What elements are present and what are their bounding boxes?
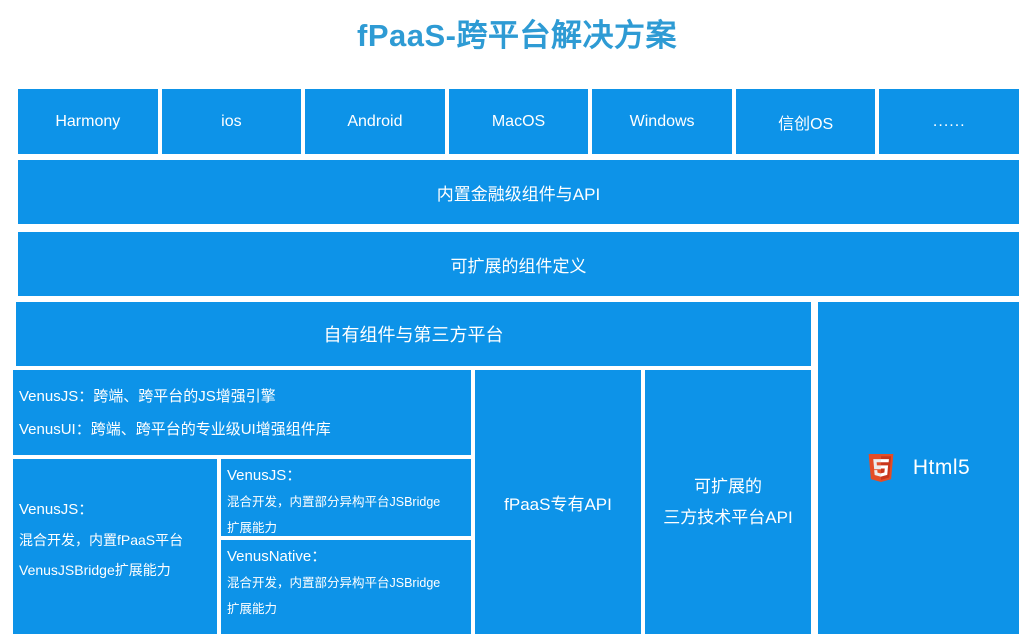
html5-label: Html5 bbox=[913, 456, 970, 480]
venus-native-line-1: 混合开发，内置部分异构平台JSBridge bbox=[227, 570, 465, 596]
html5-panel-content: Html5 bbox=[867, 452, 970, 484]
venus-js-bridge-box[interactable]: VenusJS： 混合开发，内置部分异构平台JSBridge 扩展能力 bbox=[221, 459, 471, 536]
extensible-component-label: 可扩展的组件定义 bbox=[451, 252, 587, 277]
fpaas-exclusive-api-label: fPaaS专有API bbox=[504, 490, 612, 515]
platform-cell-ios[interactable]: ios bbox=[162, 89, 302, 154]
venus-js-bridge-title: VenusJS： bbox=[227, 463, 465, 489]
html5-shield-icon bbox=[867, 452, 895, 484]
venus-js-bridge-line-2: 扩展能力 bbox=[227, 515, 465, 536]
platform-label: Android bbox=[347, 113, 402, 131]
own-components-bar[interactable]: 自有组件与第三方平台 bbox=[16, 302, 811, 366]
venus-native-box[interactable]: VenusNative： 混合开发，内置部分异构平台JSBridge 扩展能力 bbox=[221, 540, 471, 634]
venus-js-hybrid-line-2: VenusJSBridge扩展能力 bbox=[19, 555, 211, 585]
third-party-api-line-1: 可扩展的 bbox=[694, 471, 762, 502]
third-party-api-box[interactable]: 可扩展的 三方技术平台API bbox=[645, 370, 811, 634]
extensible-component-bar[interactable]: 可扩展的组件定义 bbox=[18, 232, 1019, 296]
venus-native-title: VenusNative： bbox=[227, 544, 465, 570]
builtin-financial-api-bar[interactable]: 内置金融级组件与API bbox=[18, 160, 1019, 224]
platform-label: Harmony bbox=[55, 113, 120, 131]
platform-cell-xinchuang-os[interactable]: 信创OS bbox=[736, 89, 876, 154]
platform-cell-windows[interactable]: Windows bbox=[592, 89, 732, 154]
venus-js-hybrid-title: VenusJS： bbox=[19, 495, 211, 525]
own-components-label: 自有组件与第三方平台 bbox=[324, 321, 504, 347]
platform-cell-macos[interactable]: MacOS bbox=[449, 89, 589, 154]
third-party-api-line-2: 三方技术平台API bbox=[663, 502, 792, 533]
platform-label: ios bbox=[221, 113, 241, 131]
platform-cell-more[interactable]: ...... bbox=[879, 89, 1019, 154]
venus-js-hybrid-box[interactable]: VenusJS： 混合开发，内置fPaaS平台 VenusJSBridge扩展能… bbox=[13, 459, 217, 634]
platform-cell-android[interactable]: Android bbox=[305, 89, 445, 154]
fpaas-exclusive-api-box[interactable]: fPaaS专有API bbox=[475, 370, 641, 634]
builtin-financial-api-label: 内置金融级组件与API bbox=[437, 180, 600, 205]
platform-label: Windows bbox=[630, 113, 695, 131]
venus-js-engine-line: VenusJS：跨端、跨平台的JS增强引擎 bbox=[19, 380, 471, 413]
platform-label: MacOS bbox=[492, 113, 545, 131]
platform-label: ...... bbox=[933, 113, 966, 131]
html5-panel[interactable]: Html5 bbox=[818, 302, 1019, 634]
page-title: fPaaS-跨平台解决方案 bbox=[0, 14, 1034, 58]
venus-native-line-2: 扩展能力 bbox=[227, 596, 465, 622]
platform-cell-harmony[interactable]: Harmony bbox=[18, 89, 158, 154]
venus-ui-engine-line: VenusUI：跨端、跨平台的专业级UI增强组件库 bbox=[19, 413, 471, 446]
venus-js-bridge-line-1: 混合开发，内置部分异构平台JSBridge bbox=[227, 489, 465, 515]
platform-row: Harmony ios Android MacOS Windows 信创OS .… bbox=[18, 89, 1019, 154]
venus-engines-box[interactable]: VenusJS：跨端、跨平台的JS增强引擎 VenusUI：跨端、跨平台的专业级… bbox=[13, 370, 471, 455]
platform-label: 信创OS bbox=[778, 110, 833, 134]
venus-js-hybrid-line-1: 混合开发，内置fPaaS平台 bbox=[19, 525, 211, 555]
